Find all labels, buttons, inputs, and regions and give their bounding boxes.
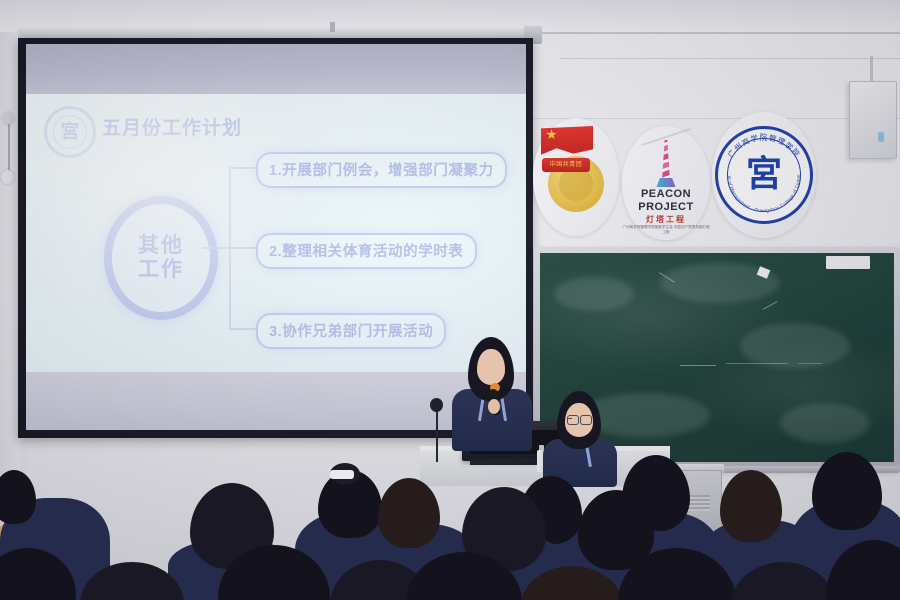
wall-electrical-box <box>849 81 897 159</box>
presentation-slide: 宮 五月份工作计划 其他 工作 1.开展部门例会，增强部门凝聚力 2.整理相关体… <box>26 94 526 372</box>
slide-bullet-2: 2.整理相关体育活动的学时表 <box>256 233 477 269</box>
screen-band-bottom <box>26 372 526 430</box>
slide-hub-line1: 其他 <box>138 234 184 258</box>
connector-arm-2 <box>229 247 257 249</box>
wall-socket-icon <box>1 170 14 184</box>
connector-arm-1 <box>229 167 257 169</box>
peacon-chinese-name: 灯塔工程 <box>622 214 710 225</box>
slide-hub-line2: 工作 <box>138 258 184 282</box>
connector-arm-3 <box>229 328 257 330</box>
plaque-communist-youth-league: 中国共青团 <box>533 118 619 236</box>
slide-school-logo-icon: 宮 <box>44 106 96 158</box>
wall-wire <box>8 124 10 172</box>
cabinet-vent-icon <box>688 495 710 511</box>
presenter-hand <box>488 399 500 414</box>
peacon-name-line2: PROJECT <box>622 201 710 213</box>
cyl-ribbon-label: 中国共青团 <box>542 158 590 172</box>
hair-scrunchie-icon <box>330 470 354 479</box>
slide-title: 五月份工作计划 <box>102 113 242 140</box>
slide-hub-circle: 其他 工作 <box>104 196 218 320</box>
slide-logo-glyph: 宮 <box>60 123 79 142</box>
roller-bracket <box>330 22 335 32</box>
peacon-name-line1: PEACON <box>622 188 710 200</box>
school-emblem-glyph: 宮 <box>746 157 782 193</box>
slide-bullet-1: 1.开展部门例会，增强部门凝聚力 <box>256 152 507 188</box>
plaque-peacon-project: PEACON PROJECT 灯塔工程 广州商学院管理学院团委学生会 中国共产党… <box>622 126 710 240</box>
classroom-presentation-photo: 宮 五月份工作计划 其他 工作 1.开展部门例会，增强部门凝聚力 2.整理相关体… <box>0 0 900 600</box>
presenter-face <box>477 349 505 385</box>
wall-seam-upper <box>560 58 900 59</box>
cyl-flag-icon <box>541 126 593 156</box>
projection-screen-surface: 宮 五月份工作计划 其他 工作 1.开展部门例会，增强部门凝聚力 2.整理相关体… <box>26 44 526 430</box>
status-led-icon <box>878 132 884 142</box>
lighthouse-base-icon <box>657 178 676 187</box>
microphone-stand <box>436 404 438 462</box>
peacon-subtext: 广州商学院管理学院团委学生会 中国共产党青年团灯塔工程 <box>622 225 710 236</box>
slide-bullet-3: 3.协作兄弟部门开展活动 <box>256 313 446 349</box>
screen-band-top <box>26 44 526 94</box>
lighthouse-tower-icon <box>658 140 675 182</box>
conduit-pipe <box>870 56 873 82</box>
plaque-school-of-management: 广州商学院管理学院 School of Management · Guangzh… <box>712 112 816 238</box>
connector-stem <box>202 247 230 249</box>
microphone-icon <box>430 398 443 412</box>
eyeglasses-bridge <box>567 418 572 419</box>
blackboard-paper-note <box>826 256 870 269</box>
